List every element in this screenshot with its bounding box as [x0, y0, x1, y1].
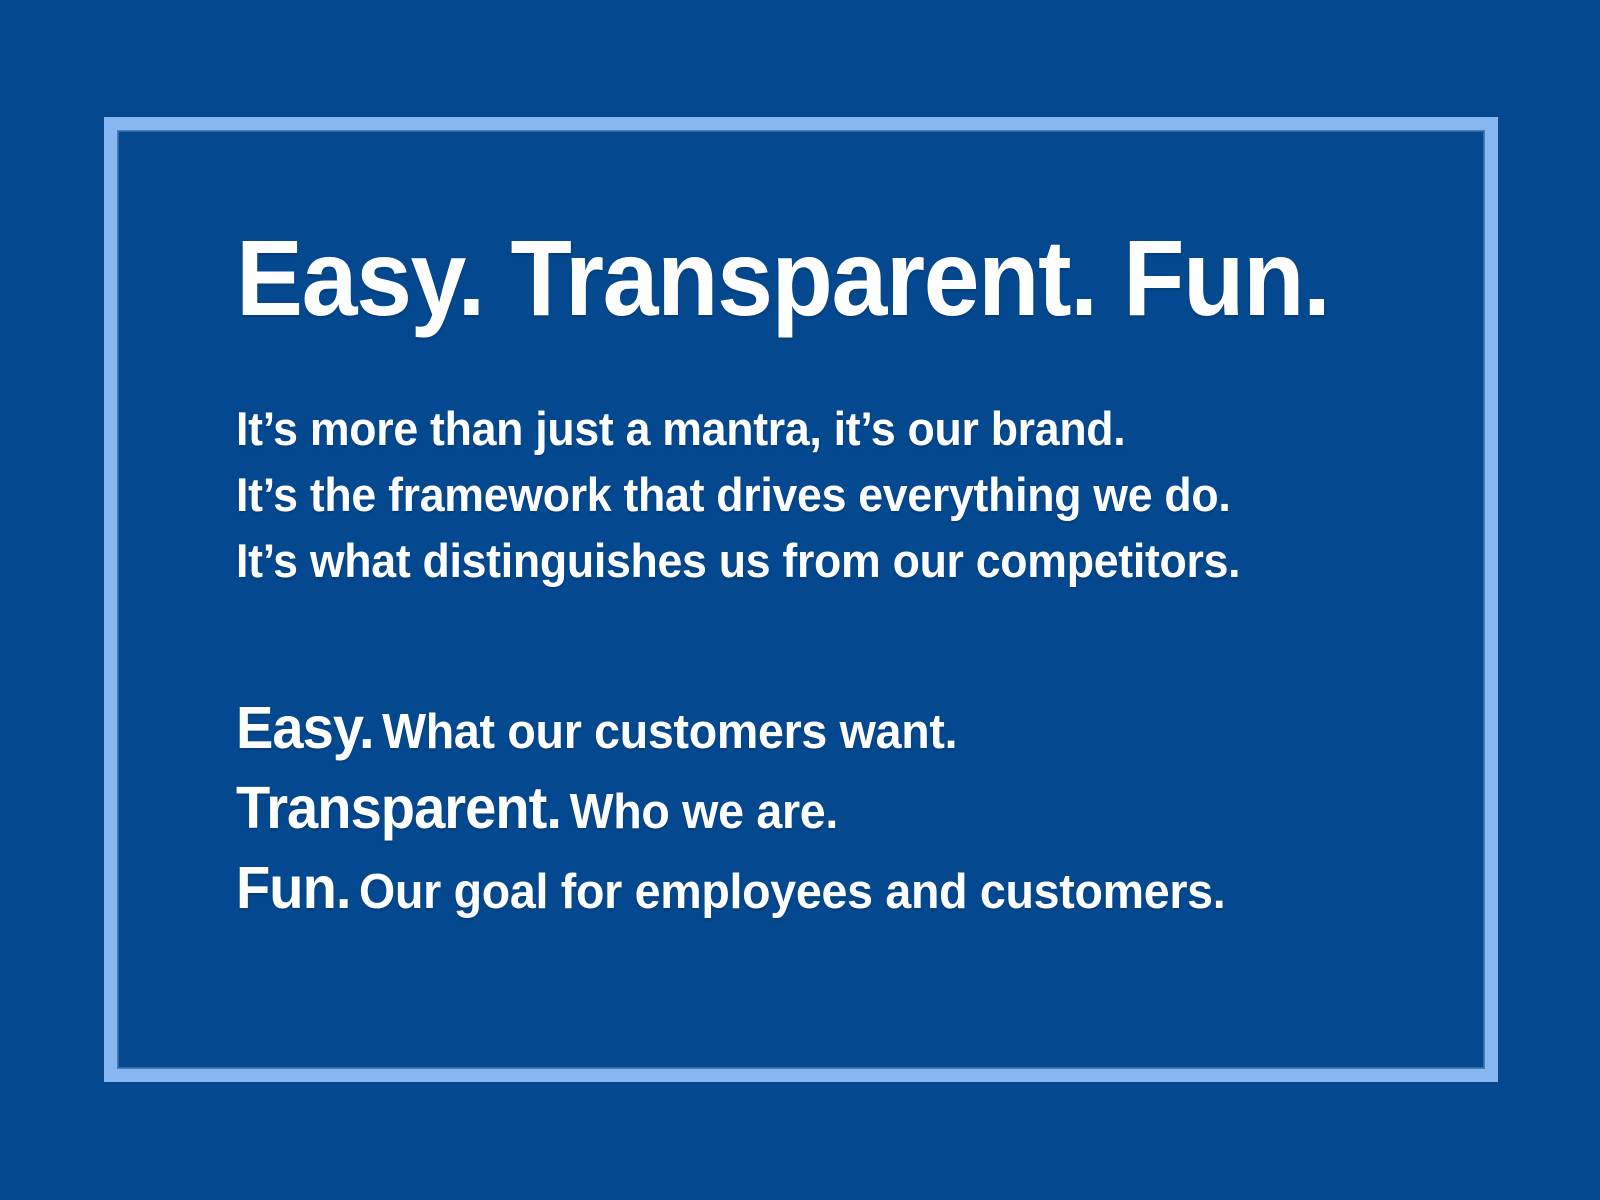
definition-description: What our customers want.	[374, 705, 958, 759]
headline: Easy. Transparent. Fun.	[236, 222, 1333, 334]
definition-row-easy: Easy.What our customers want.	[236, 688, 1357, 768]
definition-term: Transparent.	[236, 775, 561, 841]
intro-line: It’s what distinguishes us from our comp…	[236, 528, 1357, 594]
intro-line: It’s the framework that drives everythin…	[236, 462, 1357, 528]
definition-term: Fun.	[236, 855, 350, 921]
brand-mantra-slide: Easy. Transparent. Fun. It’s more than j…	[0, 0, 1600, 1200]
intro-line: It’s more than just a mantra, it’s our b…	[236, 396, 1357, 462]
definitions-block: Easy.What our customers want. Transparen…	[236, 688, 1416, 928]
definition-term: Easy.	[236, 695, 374, 761]
definition-row-transparent: Transparent.Who we are.	[236, 768, 1357, 848]
slide-content: Easy. Transparent. Fun. It’s more than j…	[236, 222, 1416, 928]
definition-description: Who we are.	[561, 785, 838, 839]
intro-paragraph: It’s more than just a mantra, it’s our b…	[236, 396, 1416, 594]
definition-row-fun: Fun.Our goal for employees and customers…	[236, 848, 1357, 928]
definition-description: Our goal for employees and customers.	[350, 865, 1225, 919]
